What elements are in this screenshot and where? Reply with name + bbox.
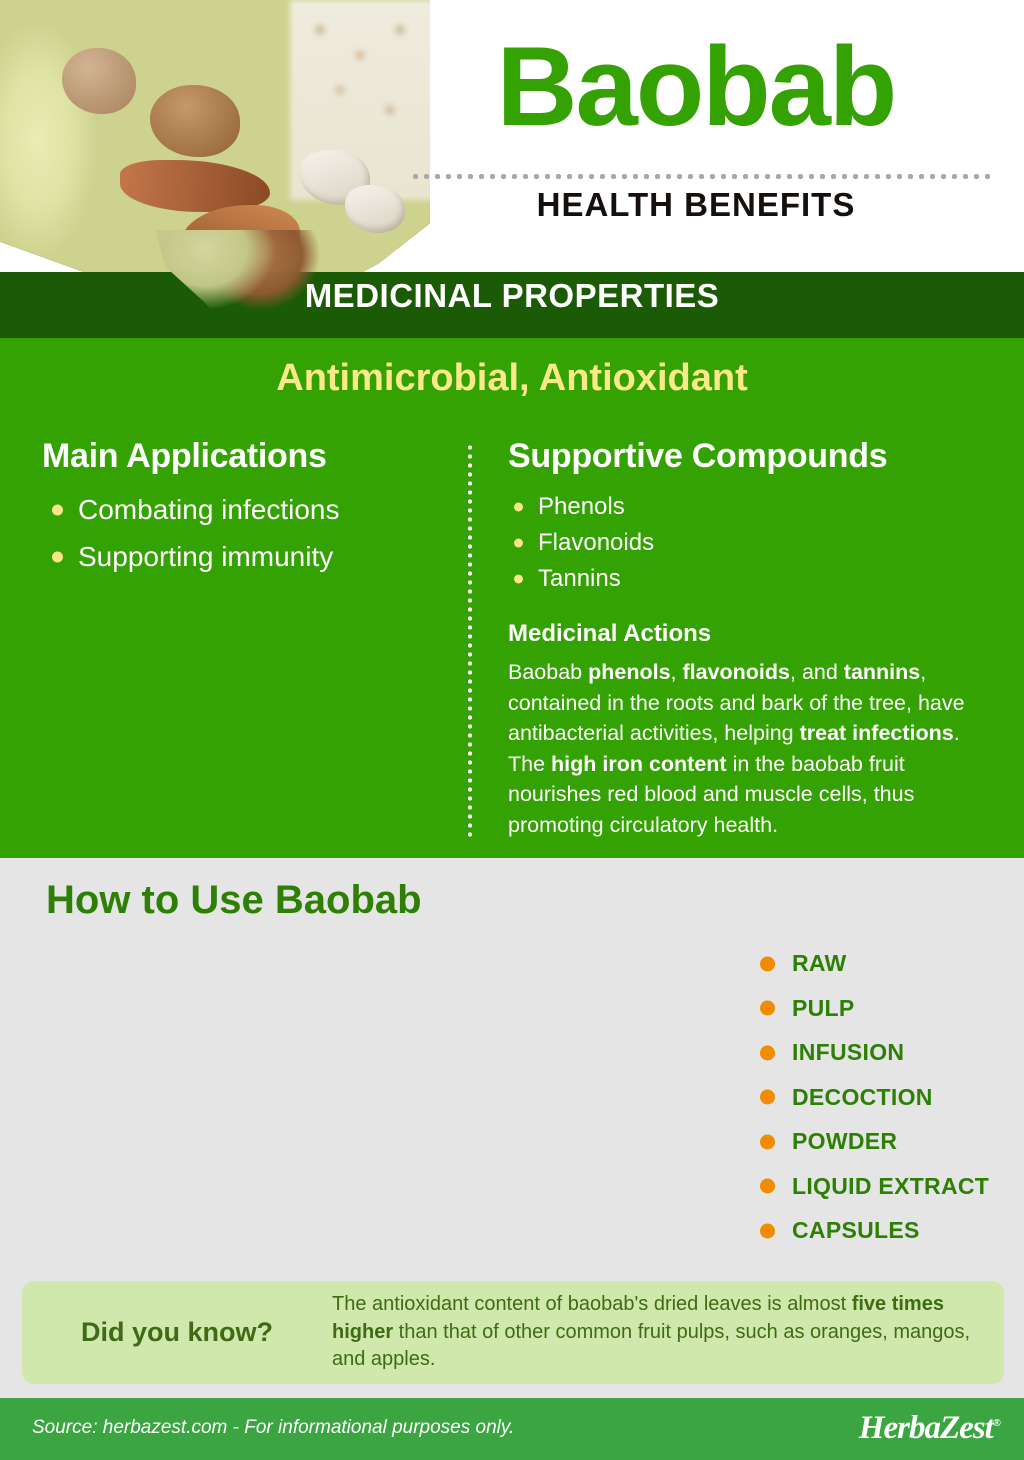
medicinal-properties-title: MEDICINAL PROPERTIES: [0, 277, 1024, 315]
pod-seed-2: [150, 85, 240, 157]
supportive-compounds-list: Phenols Flavonoids Tannins: [508, 490, 986, 596]
list-item: Flavonoids: [508, 526, 986, 560]
list-item-infusion: INFUSION: [760, 1039, 989, 1066]
infographic-page: Baobab HEALTH BENEFITS MEDICINAL PROPERT…: [0, 0, 1024, 1460]
supportive-compounds-heading: Supportive Compounds: [508, 437, 986, 476]
how-to-use-heading: How to Use Baobab: [46, 878, 422, 923]
supportive-compounds-column: Supportive Compounds Phenols Flavonoids …: [508, 437, 986, 840]
source-text: Source: herbazest.com - For informationa…: [32, 1417, 514, 1439]
list-item-capsules: CAPSULES: [760, 1217, 989, 1244]
pod-seed-1: [62, 48, 136, 114]
medicinal-actions-text: Baobab phenols, flavonoids, and tannins,…: [508, 657, 986, 840]
page-subtitle: HEALTH BENEFITS: [376, 186, 1016, 224]
page-title: Baobab: [376, 28, 1016, 146]
column-dotted-divider: [468, 443, 472, 838]
list-item-raw: RAW: [760, 950, 989, 977]
main-applications-heading: Main Applications: [42, 437, 452, 476]
list-item: Tannins: [508, 562, 986, 596]
herbazest-logo[interactable]: HerbaZest®: [859, 1410, 1000, 1447]
registered-mark: ®: [993, 1417, 1000, 1429]
list-item-decoction: DECOCTION: [760, 1084, 989, 1111]
header-section: Baobab HEALTH BENEFITS: [0, 0, 1024, 272]
medicinal-properties-list: Antimicrobial, Antioxidant: [0, 357, 1024, 400]
medicinal-actions-heading: Medicinal Actions: [508, 620, 986, 648]
did-you-know-text: The antioxidant content of baobab's drie…: [332, 1291, 1004, 1374]
list-item: Phenols: [508, 490, 986, 524]
list-item-pulp: PULP: [760, 995, 989, 1022]
list-item: Combating infections: [42, 490, 452, 531]
main-applications-column: Main Applications Combating infections S…: [42, 437, 452, 584]
did-you-know-label: Did you know?: [22, 1317, 332, 1348]
main-applications-list: Combating infections Supporting immunity: [42, 490, 452, 578]
list-item-powder: POWDER: [760, 1128, 989, 1155]
list-item-liquid-extract: LIQUID EXTRACT: [760, 1173, 989, 1200]
usage-methods-list: RAW PULP INFUSION DECOCTION POWDER LIQUI…: [760, 950, 989, 1262]
title-dotted-divider: [410, 173, 990, 180]
did-you-know-box: Did you know? The antioxidant content of…: [22, 1281, 1004, 1384]
logo-text: HerbaZest: [859, 1410, 993, 1446]
list-item: Supporting immunity: [42, 537, 452, 578]
